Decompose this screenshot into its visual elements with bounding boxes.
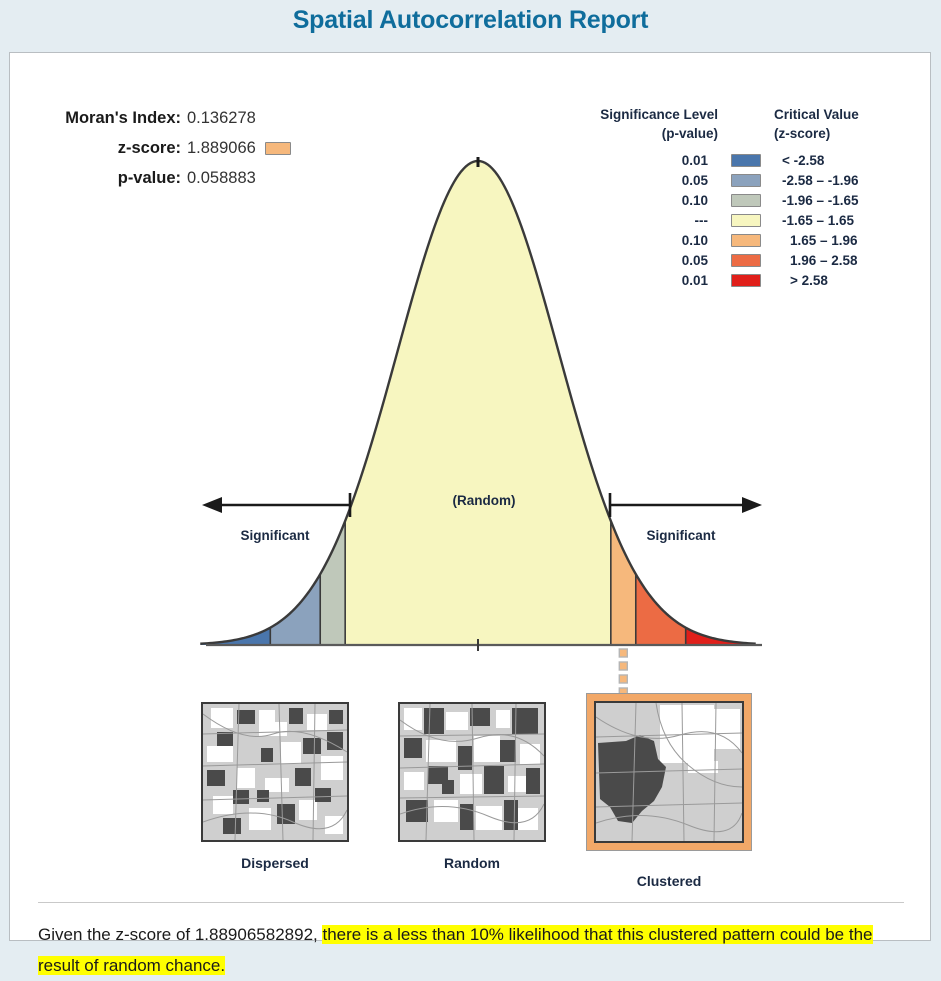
random-region-label: (Random) (434, 493, 534, 508)
z-score-label: z-score: (55, 139, 187, 158)
z-score-value: 1.889066 (187, 139, 256, 158)
legend-p-value: 0.01 (546, 153, 718, 168)
z-score-band-swatch (265, 142, 291, 155)
legend-swatch-cell (718, 194, 774, 207)
legend-z-range: < -2.58 (774, 153, 898, 168)
random-map-svg (400, 704, 544, 840)
report-panel: Moran's Index: 0.136278 z-score: 1.88906… (9, 52, 931, 941)
thumbnail-dispersed-caption: Dispersed (201, 855, 349, 871)
legend-swatch-cell (718, 174, 774, 187)
thumbnail-dispersed-map (201, 702, 349, 842)
footer-divider (38, 902, 904, 903)
page-title: Spatial Autocorrelation Report (0, 6, 941, 35)
summary-prefix: Given the z-score of 1.88906582892, (38, 925, 318, 944)
p-value-label: p-value: (55, 169, 187, 188)
legend-row: 0.10-1.96 – -1.65 (546, 190, 898, 210)
legend-swatch-cell (718, 254, 774, 267)
legend-color-swatch (731, 214, 761, 227)
thumbnail-clustered[interactable]: Clustered (595, 702, 743, 889)
legend-p-value: 0.10 (546, 233, 718, 248)
legend-p-value: 0.05 (546, 173, 718, 188)
clustered-map-svg (596, 703, 742, 841)
legend-header-significance-sub: (p-value) (546, 124, 718, 143)
morans-index-label: Moran's Index: (55, 109, 187, 128)
thumbnail-clustered-highlight-frame (586, 693, 752, 851)
legend-p-value: 0.01 (546, 273, 718, 288)
chart-legend: Significance Level (p-value) Critical Va… (546, 105, 898, 290)
legend-swatch-cell (718, 234, 774, 247)
legend-row: ----1.65 – 1.65 (546, 210, 898, 230)
legend-p-value: 0.05 (546, 253, 718, 268)
legend-header-spacer (718, 105, 774, 143)
curve-band (200, 151, 270, 645)
legend-p-value: 0.10 (546, 193, 718, 208)
stat-row-p-value: p-value: 0.058883 (55, 163, 345, 193)
p-value-value: 0.058883 (187, 169, 256, 188)
legend-swatch-cell (718, 154, 774, 167)
legend-z-range: -1.96 – -1.65 (774, 193, 898, 208)
curve-band (270, 151, 320, 645)
legend-header-critical-sub: (z-score) (774, 124, 898, 143)
legend-header-significance-title: Significance Level (546, 105, 718, 124)
thumbnail-clustered-caption: Clustered (595, 873, 743, 889)
legend-row-list: 0.01< -2.580.05-2.58 – -1.960.10-1.96 – … (546, 150, 898, 290)
curve-band (320, 151, 345, 645)
legend-z-range: -2.58 – -1.96 (774, 173, 898, 188)
morans-index-value: 0.136278 (187, 109, 256, 128)
significant-label-right: Significant (621, 528, 741, 543)
summary-text: Given the z-score of 1.88906582892, ther… (38, 919, 912, 981)
connector-dot (619, 649, 627, 657)
thumbnail-dispersed[interactable]: Dispersed (201, 702, 349, 871)
spatial-autocorrelation-report-page: Spatial Autocorrelation Report Moran's I… (0, 0, 941, 951)
legend-color-swatch (731, 254, 761, 267)
significant-label-left: Significant (215, 528, 335, 543)
band-divider-lines (270, 521, 685, 645)
stat-row-z-score: z-score: 1.889066 (55, 133, 345, 163)
legend-p-value: --- (546, 213, 718, 228)
legend-header-significance: Significance Level (p-value) (546, 105, 718, 143)
legend-swatch-cell (718, 214, 774, 227)
legend-color-swatch (731, 194, 761, 207)
connector-dot (619, 662, 627, 670)
legend-row: 0.01< -2.58 (546, 150, 898, 170)
legend-color-swatch (731, 274, 761, 287)
stat-row-morans-index: Moran's Index: 0.136278 (55, 103, 345, 133)
legend-z-range: > 2.58 (774, 273, 898, 288)
thumbnail-random-map (398, 702, 546, 842)
thumbnail-clustered-map (594, 701, 744, 843)
legend-row: 0.05-2.58 – -1.96 (546, 170, 898, 190)
legend-color-swatch (731, 154, 761, 167)
legend-headers: Significance Level (p-value) Critical Va… (546, 105, 898, 143)
legend-row: 0.01> 2.58 (546, 270, 898, 290)
thumbnail-random[interactable]: Random (398, 702, 546, 871)
legend-header-critical: Critical Value (z-score) (774, 105, 898, 143)
legend-z-range: 1.96 – 2.58 (774, 253, 898, 268)
dispersed-map-svg (203, 704, 347, 840)
connector-dot (619, 675, 627, 683)
legend-color-swatch (731, 174, 761, 187)
statistics-block: Moran's Index: 0.136278 z-score: 1.88906… (55, 103, 345, 193)
legend-z-range: 1.65 – 1.96 (774, 233, 898, 248)
legend-swatch-cell (718, 274, 774, 287)
significant-arrow-right (610, 493, 762, 517)
legend-header-critical-title: Critical Value (774, 105, 898, 124)
legend-color-swatch (731, 234, 761, 247)
legend-row: 0.101.65 – 1.96 (546, 230, 898, 250)
legend-z-range: -1.65 – 1.65 (774, 213, 898, 228)
significant-arrow-left (202, 493, 350, 517)
pattern-thumbnails: Dispersed (10, 702, 932, 882)
legend-row: 0.051.96 – 2.58 (546, 250, 898, 270)
thumbnail-random-caption: Random (398, 855, 546, 871)
